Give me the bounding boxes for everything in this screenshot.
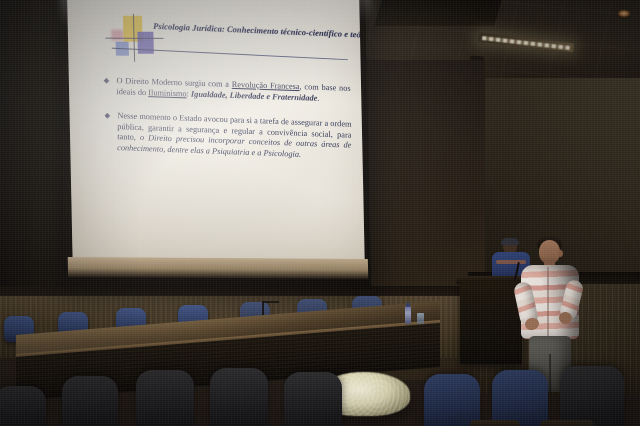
auditorium-seat	[492, 370, 548, 426]
seat-armrest	[540, 420, 594, 426]
drinking-glass	[417, 313, 424, 324]
auditorium-photo: Psicologia Jurídica: Conhecimento técnic…	[0, 0, 640, 426]
auditorium-seat	[424, 374, 480, 426]
screen-bottom-edge	[68, 257, 369, 279]
auditorium-seat	[136, 370, 194, 426]
projection-screen: Psicologia Jurídica: Conhecimento técnic…	[67, 0, 365, 275]
seat-armrest	[470, 420, 520, 426]
ceiling-beam	[374, 0, 501, 26]
table-microphone-arm	[262, 301, 279, 303]
cap-icon	[501, 238, 519, 245]
auditorium-seat	[210, 368, 268, 426]
room-background: Psicologia Jurídica: Conhecimento técnic…	[0, 0, 640, 426]
auditorium-seat-row	[0, 352, 640, 426]
auditorium-seat	[0, 386, 46, 426]
recessed-downlight	[618, 10, 630, 17]
presenter-ear	[558, 250, 563, 257]
auditorium-seat	[62, 376, 118, 426]
screen-vignette	[67, 0, 365, 275]
auditorium-seat	[284, 372, 342, 426]
shirt-placket	[547, 267, 549, 337]
water-bottle	[405, 306, 411, 324]
auditorium-seat	[560, 366, 624, 426]
